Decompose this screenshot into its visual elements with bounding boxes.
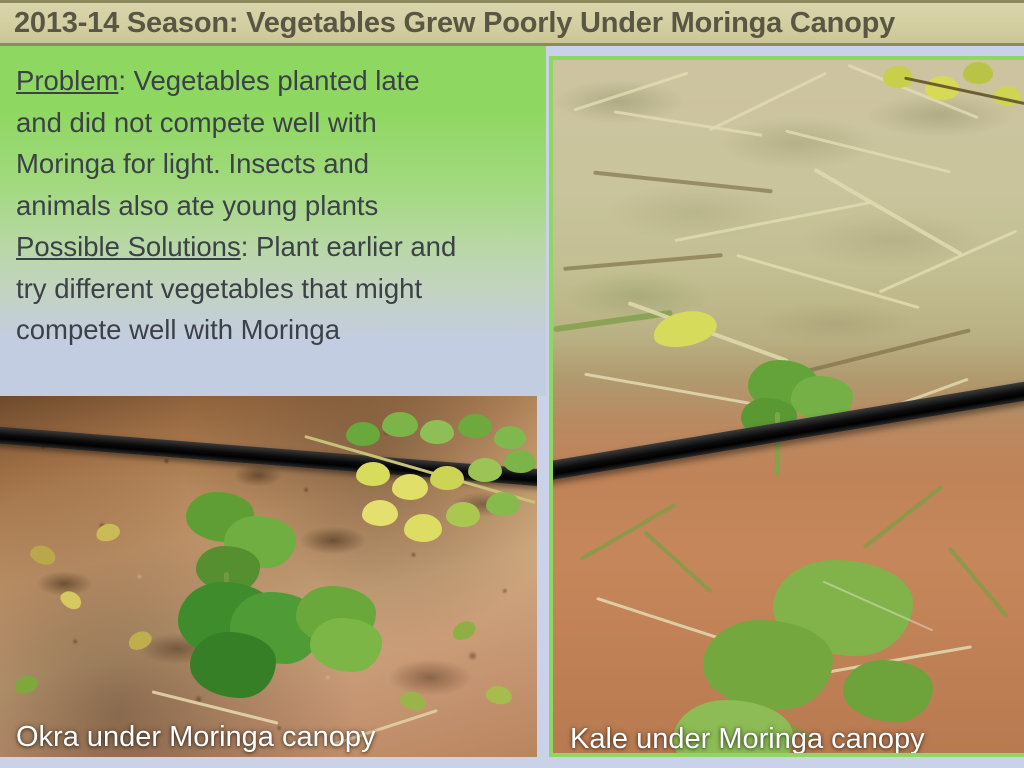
moringa-leaflet-yellow xyxy=(430,466,464,490)
moringa-leaflet xyxy=(504,450,536,473)
text-line-1-rest: : Vegetables planted late xyxy=(118,65,419,96)
slide-title-bar: 2013-14 Season: Vegetables Grew Poorly U… xyxy=(0,0,1024,46)
moringa-leaflet xyxy=(494,426,526,449)
caption-okra: Okra under Moringa canopy xyxy=(16,723,375,752)
text-line-4: animals also ate young plants xyxy=(16,185,536,227)
text-panel: Problem: Vegetables planted late and did… xyxy=(0,46,546,396)
moringa-leaflet-yellow xyxy=(362,500,398,526)
slide-canvas: 2013-14 Season: Vegetables Grew Poorly U… xyxy=(0,0,1024,768)
text-line-6: try different vegetables that might xyxy=(16,268,536,310)
moringa-leaflet xyxy=(486,492,520,516)
text-line-7: compete well with Moringa xyxy=(16,309,536,351)
text-line-3: Moringa for light. Insects and xyxy=(16,143,536,185)
possible-solutions-label: Possible Solutions xyxy=(16,231,241,262)
moringa-leaflet xyxy=(420,420,454,444)
moringa-leaflet xyxy=(468,458,502,482)
photo-okra-under-moringa: Okra under Moringa canopy xyxy=(0,396,537,757)
text-line-1: Problem: Vegetables planted late xyxy=(16,60,536,102)
caption-kale: Kale under Moringa canopy xyxy=(570,725,925,754)
moringa-leaflet xyxy=(382,412,418,437)
bottom-strip xyxy=(0,757,1024,768)
problem-label: Problem xyxy=(16,65,118,96)
moringa-leaflet xyxy=(346,422,380,446)
text-line-2: and did not compete well with xyxy=(16,102,536,144)
photo-gutter xyxy=(537,396,549,757)
page-title: 2013-14 Season: Vegetables Grew Poorly U… xyxy=(14,9,895,38)
text-line-5-rest: : Plant earlier and xyxy=(241,231,457,262)
moringa-leaflet xyxy=(446,502,480,527)
text-line-5: Possible Solutions: Plant earlier and xyxy=(16,226,536,268)
photo-kale-under-moringa: Kale under Moringa canopy xyxy=(549,56,1024,757)
moringa-leaflet-yellow xyxy=(392,474,428,500)
moringa-leaflet-yellow xyxy=(404,514,442,542)
moringa-leaf xyxy=(963,62,993,84)
moringa-leaflet-yellow xyxy=(356,462,390,486)
moringa-leaflet xyxy=(458,414,492,438)
